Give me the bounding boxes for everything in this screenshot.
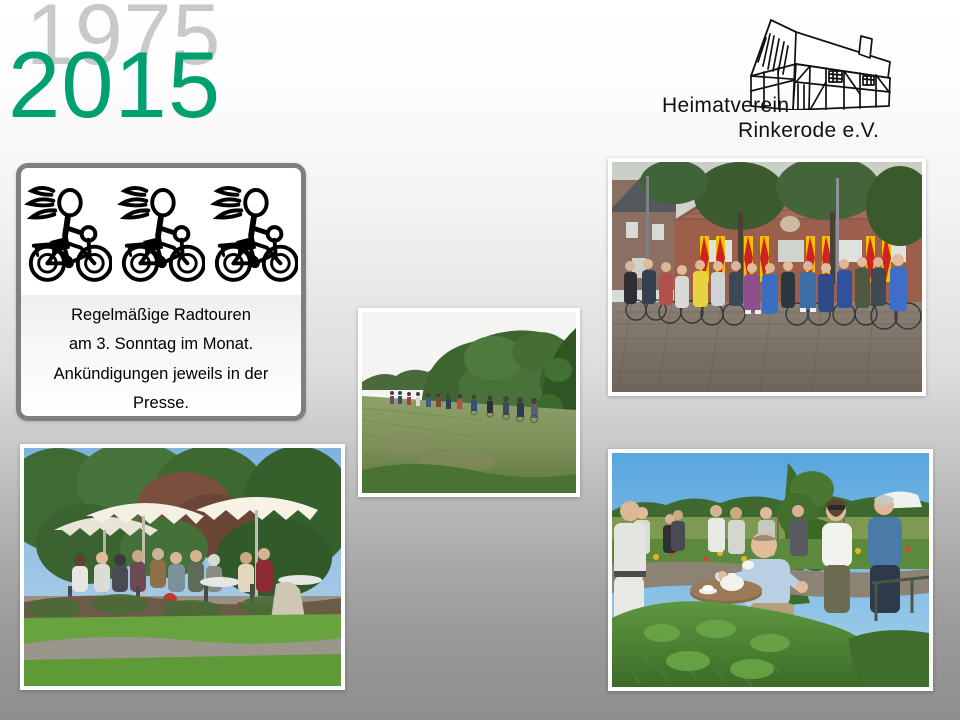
logo-line-2: Rinkerode e.V. xyxy=(648,118,908,144)
slide-canvas: 1975 2015 xyxy=(0,0,960,720)
caption-line-3: Ankündigungen jeweils in der xyxy=(25,360,297,389)
association-logo: Heimatverein Rinkerode e.V. xyxy=(648,14,908,146)
bike-tour-caption: Regelmäßige Radtouren am 3. Sonntag im M… xyxy=(25,301,297,418)
bike-tour-info-card: Regelmäßige Radtouren am 3. Sonntag im M… xyxy=(16,163,306,421)
cyclist-pictogram-icon xyxy=(21,168,301,295)
logo-line-1: Heimatverein xyxy=(648,93,908,119)
caption-line-1: Regelmäßige Radtouren xyxy=(25,301,297,330)
photo-cyclists-along-field-edge xyxy=(358,308,580,497)
anniversary-years: 1975 2015 xyxy=(0,0,300,160)
photo-outdoor-cafe-with-umbrellas xyxy=(20,444,345,690)
photo-cyclist-group-in-front-of-brick-building xyxy=(608,158,926,396)
year-current-label: 2015 xyxy=(8,38,221,132)
caption-line-2: am 3. Sonntag im Monat. xyxy=(25,330,297,359)
logo-wordmark: Heimatverein Rinkerode e.V. xyxy=(648,93,908,144)
photo-garden-visit-with-coffee-table xyxy=(608,449,933,691)
caption-line-4: Presse. xyxy=(25,389,297,418)
